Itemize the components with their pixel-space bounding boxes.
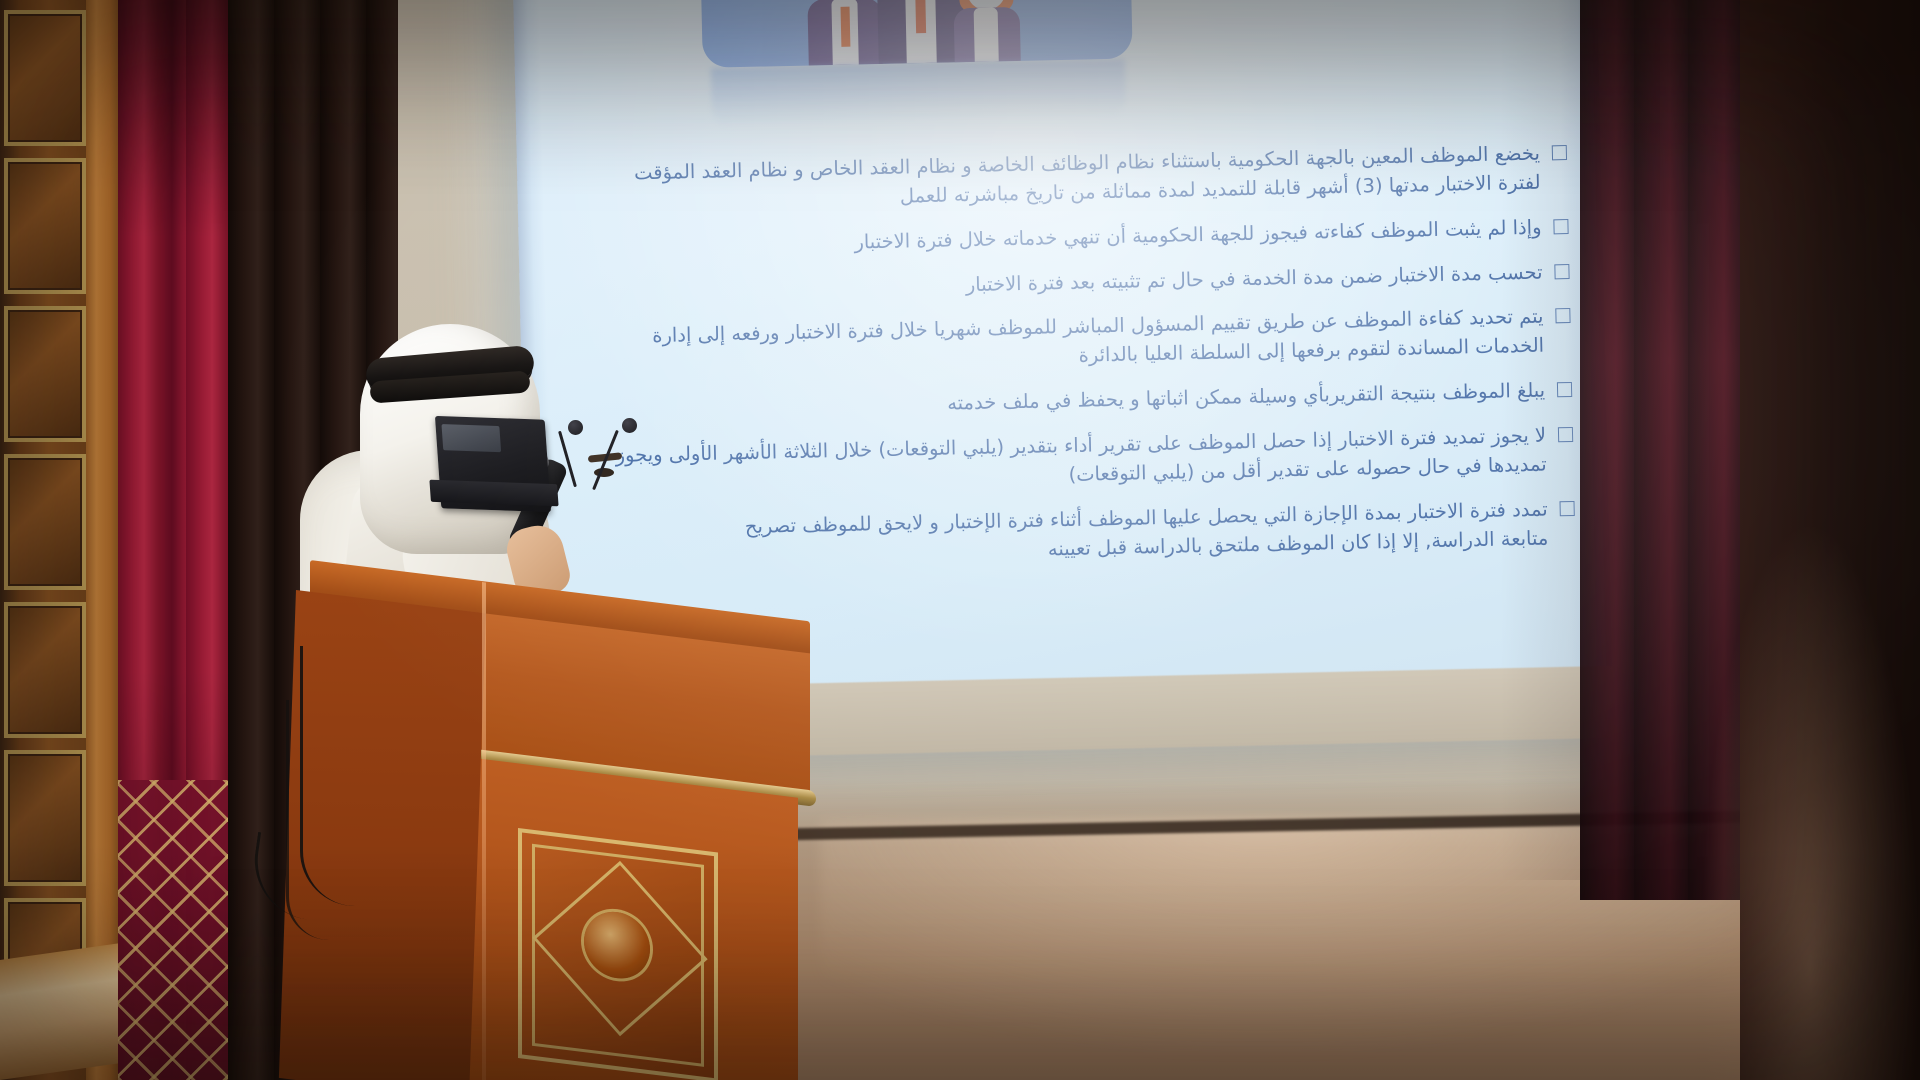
door-panel (4, 454, 86, 590)
bullet-text: وإذا لم يثبت الموظف كفاءته فيجوز للجهة ا… (558, 213, 1541, 263)
door-panel-group (0, 0, 86, 1080)
right-wall-light (1700, 520, 1920, 1080)
bullet-text: يخضع الموظف المعين بالجهة الحكومية باستث… (557, 140, 1541, 219)
laptop-base (429, 480, 558, 507)
figure-man-left (806, 0, 883, 66)
door-panel (4, 750, 86, 886)
list-item: وإذا لم يثبت الموظف كفاءته فيجوز للجهة ا… (558, 213, 1568, 264)
list-item: تحسب مدة الاختبار ضمن مدة الخدمة في حال … (559, 258, 1569, 309)
list-item: يبلغ الموظف بنتيجة التقريربأي وسيلة ممكن… (562, 376, 1572, 427)
door-panel (4, 306, 86, 442)
bullet-text: تحسب مدة الاختبار ضمن مدة الخدمة في حال … (559, 258, 1542, 308)
door-panel (4, 158, 86, 294)
gooseneck-microphone-left[interactable] (552, 418, 592, 488)
door-jamb (86, 0, 120, 1080)
door-panel (4, 10, 86, 146)
list-item: يخضع الموظف المعين بالجهة الحكومية باستث… (557, 139, 1568, 219)
laptop-screen (441, 424, 501, 452)
hr-team-icons-illustration (697, 0, 1133, 118)
lectern-corner-highlight (482, 582, 486, 1080)
bullet-text: يبلغ الموظف بنتيجة التقريربأي وسيلة ممكن… (562, 377, 1545, 427)
illustration-reflection (711, 59, 1126, 128)
door-panel (4, 602, 86, 738)
bullet-text: يتم تحديد كفاءة الموظف عن طريق تقييم الم… (560, 303, 1544, 382)
illustration-card (697, 0, 1132, 68)
gooseneck-microphone-right[interactable] (596, 412, 646, 492)
figure-woman-right (950, 0, 1023, 62)
geometric-gold-medallion (518, 828, 718, 1080)
wooden-lectern (310, 560, 810, 1080)
slide-bullet-list: يخضع الموظف المعين بالجهة الحكومية باستث… (557, 139, 1576, 590)
presentation-photo: يخضع الموظف المعين بالجهة الحكومية باستث… (0, 0, 1920, 1080)
list-item: يتم تحديد كفاءة الموظف عن طريق تقييم الم… (560, 302, 1571, 382)
list-item: لا يجوز تمديد فترة الاختبار إذا حصل المو… (563, 421, 1574, 501)
bullet-text: لا يجوز تمديد فترة الاختبار إذا حصل المو… (563, 422, 1547, 501)
